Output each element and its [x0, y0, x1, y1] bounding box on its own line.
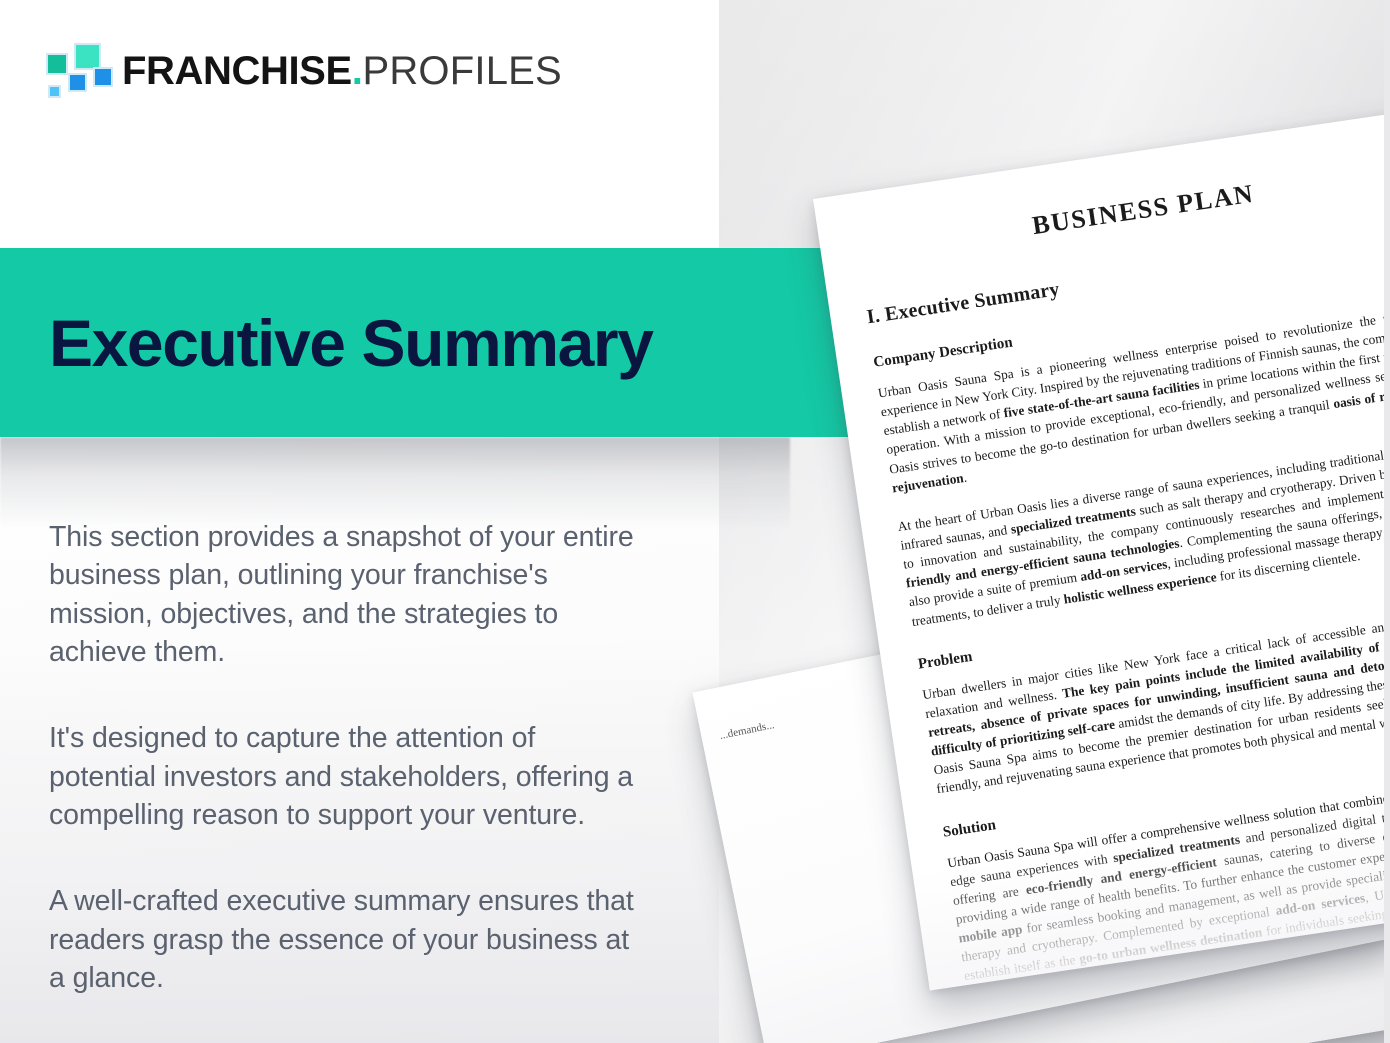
document-content: BUSINESS PLAN I. Executive Summary Compa… [855, 153, 1390, 991]
logo-wordmark: FRANCHISE.PROFILES [122, 51, 562, 91]
brand-logo[interactable]: FRANCHISE.PROFILES [46, 40, 562, 102]
banner-drop-shadow [0, 437, 790, 529]
logo-square-blue-large [93, 67, 113, 87]
body-paragraph-2: It's designed to capture the attention o… [49, 719, 649, 834]
logo-square-sky [48, 85, 61, 98]
logo-word-dot: . [352, 49, 363, 93]
body-paragraph-1: This section provides a snapshot of your… [49, 518, 649, 671]
logo-word-franchise: FRANCHISE [122, 49, 352, 93]
logo-square-teal-dark [46, 53, 68, 75]
logo-square-teal-light [74, 43, 101, 70]
document-subsection-company-description: Company Description Urban Oasis Sauna Sp… [872, 271, 1390, 631]
logo-square-blue-small [68, 73, 87, 92]
slide-canvas: FRANCHISE.PROFILES Executive Summary Thi… [0, 0, 1390, 1043]
page-title: Executive Summary [49, 310, 653, 376]
logo-word-profiles: PROFILES [362, 49, 561, 93]
middle-sheet-text: ...demands... [718, 692, 898, 744]
body-copy: This section provides a snapshot of your… [49, 518, 649, 997]
body-paragraph-3: A well-crafted executive summary ensures… [49, 882, 649, 997]
document-stack: ...by exceptional ... as ...rban wellnes… [700, 120, 1390, 1043]
logo-mark-icon [46, 43, 104, 99]
right-edge-trim [1384, 0, 1390, 1043]
